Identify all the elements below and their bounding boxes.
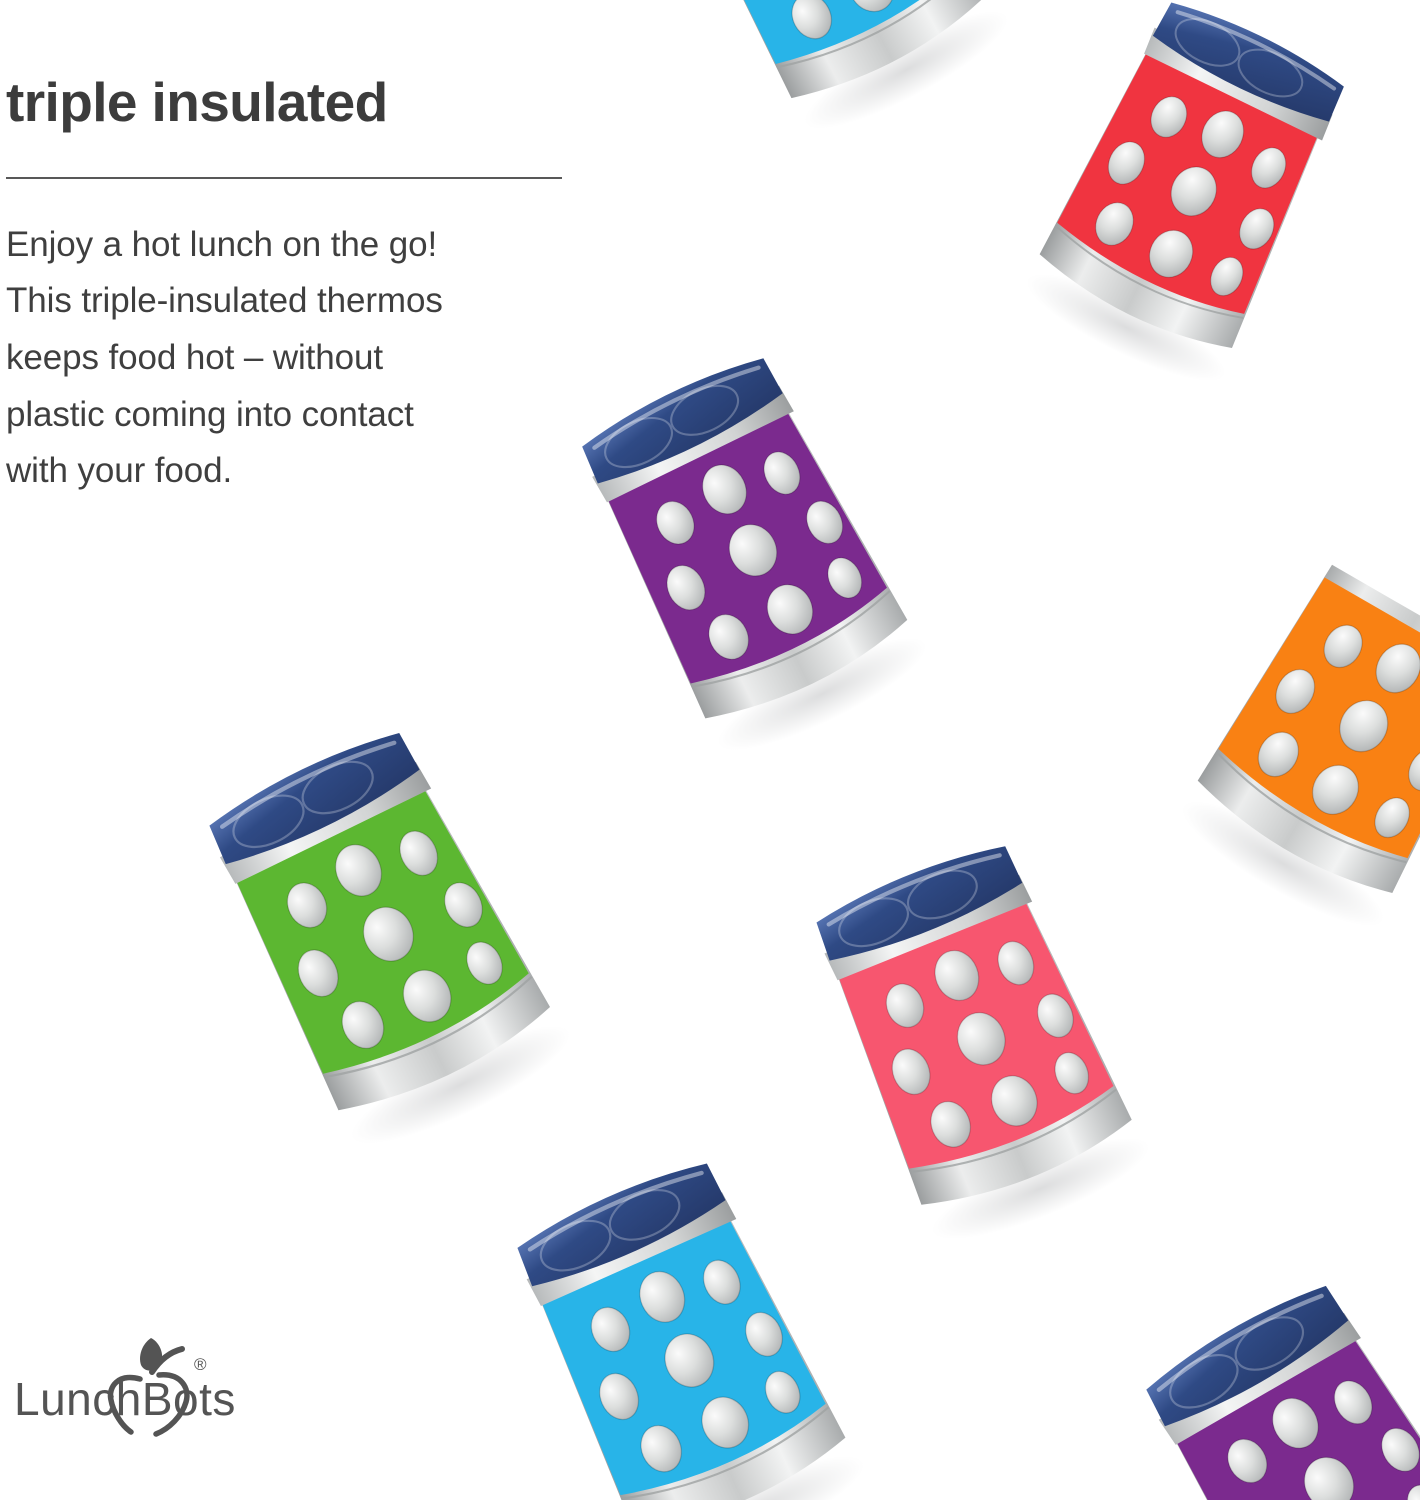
thermos-red — [1002, 0, 1371, 390]
brand-logo: ® LunchBots — [14, 1330, 244, 1440]
page-title: triple insulated — [6, 72, 606, 133]
body-copy: Enjoy a hot lunch on the go!This triple-… — [6, 217, 606, 500]
divider — [6, 177, 562, 179]
thermos-cyan — [630, 0, 1021, 146]
thermos-green — [177, 714, 583, 1161]
thermos-cyan — [485, 1145, 877, 1500]
thermos-purple — [551, 340, 939, 767]
product-marketing-image: triple insulated Enjoy a hot lunch on th… — [0, 0, 1420, 1500]
registered-mark: ® — [194, 1355, 207, 1374]
thermos-orange — [1157, 505, 1420, 936]
thermos-purple — [1115, 1265, 1420, 1500]
copy-block: triple insulated Enjoy a hot lunch on th… — [6, 72, 606, 500]
brand-wordmark: LunchBots — [14, 1373, 236, 1425]
thermos-pink — [785, 829, 1162, 1253]
